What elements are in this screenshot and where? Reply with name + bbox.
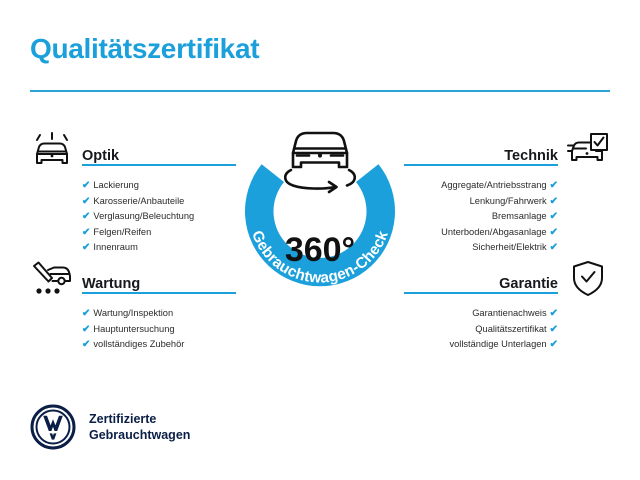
footer-brand: Zertifizierte Gebrauchtwagen	[30, 404, 190, 450]
list-item: ✔Lackierung	[82, 178, 236, 194]
checklist-garantie: Garantienachweis✔ Qualitätszertifikat✔ v…	[404, 306, 558, 353]
list-item: ✔Felgen/Reifen	[82, 225, 236, 241]
section-title: Technik	[504, 148, 558, 164]
list-item: Bremsanlage✔	[404, 209, 558, 225]
page-title: Qualitätszertifikat	[30, 33, 259, 65]
list-item-label: Bremsanlage	[492, 211, 547, 221]
list-item: vollständige Unterlagen✔	[404, 337, 558, 353]
check-icon: ✔	[82, 211, 90, 222]
list-item-label: Garantienachweis	[472, 308, 546, 318]
car-rotation-icon	[285, 133, 355, 192]
check-icon: ✔	[550, 242, 558, 253]
title-divider	[30, 90, 610, 92]
section-optik: Optik ✔Lackierung ✔Karosserie/Anbauteile…	[30, 140, 236, 256]
list-item-label: Hauptuntersuchung	[93, 324, 174, 334]
list-item: Aggregate/Antriebsstrang✔	[404, 178, 558, 194]
section-title: Wartung	[82, 276, 140, 292]
list-item: Garantienachweis✔	[404, 306, 558, 322]
list-item-label: vollständiges Zubehör	[93, 339, 184, 349]
badge-360-gebrauchtwagen-check: Gebrauchtwagen-Check 360°	[231, 122, 409, 300]
list-item-label: Innenraum	[93, 242, 137, 252]
list-item: Lenkung/Fahrwerk✔	[404, 194, 558, 210]
badge-center-label: 360°	[285, 231, 355, 269]
vw-logo	[30, 404, 76, 450]
check-icon: ✔	[82, 180, 90, 191]
list-item: ✔Wartung/Inspektion	[82, 306, 236, 322]
list-item-label: Lenkung/Fahrwerk	[470, 196, 547, 206]
check-icon: ✔	[550, 324, 558, 335]
section-technik: Technik Aggregate/Antriebsstrang✔ Lenkun…	[404, 140, 610, 256]
list-item: ✔Innenraum	[82, 240, 236, 256]
checklist-optik: ✔Lackierung ✔Karosserie/Anbauteile ✔Verg…	[82, 178, 236, 256]
check-icon: ✔	[82, 196, 90, 207]
check-icon: ✔	[550, 308, 558, 319]
list-item-label: Aggregate/Antriebsstrang	[441, 180, 546, 190]
list-item-label: Wartung/Inspektion	[93, 308, 173, 318]
list-item: Qualitätszertifikat✔	[404, 322, 558, 338]
check-icon: ✔	[550, 211, 558, 222]
section-wartung: Wartung ✔Wartung/Inspektion ✔Hauptunters…	[30, 268, 236, 353]
list-item-label: Lackierung	[93, 180, 138, 190]
list-item: Sicherheit/Elektrik✔	[404, 240, 558, 256]
check-icon: ✔	[550, 339, 558, 350]
section-divider	[82, 164, 236, 166]
list-item: ✔vollständiges Zubehör	[82, 337, 236, 353]
list-item-label: Karosserie/Anbauteile	[93, 196, 184, 206]
check-icon: ✔	[82, 227, 90, 238]
check-icon: ✔	[550, 227, 558, 238]
list-item-label: Verglasung/Beleuchtung	[93, 211, 194, 221]
section-divider	[404, 164, 558, 166]
section-garantie: Garantie Garantienachweis✔ Qualitätszert…	[404, 268, 610, 353]
list-item: ✔Hauptuntersuchung	[82, 322, 236, 338]
section-divider	[82, 292, 236, 294]
list-item: ✔Verglasung/Beleuchtung	[82, 209, 236, 225]
section-title: Garantie	[499, 276, 558, 292]
list-item-label: Unterboden/Abgasanlage	[441, 227, 546, 237]
list-item-label: vollständige Unterlagen	[449, 339, 546, 349]
certificate-page: Qualitätszertifikat Optik ✔Lackierung	[0, 0, 640, 480]
check-icon: ✔	[82, 308, 90, 319]
list-item: Unterboden/Abgasanlage✔	[404, 225, 558, 241]
list-item-label: Qualitätszertifikat	[475, 324, 546, 334]
section-divider	[404, 292, 558, 294]
check-icon: ✔	[550, 196, 558, 207]
checklist-technik: Aggregate/Antriebsstrang✔ Lenkung/Fahrwe…	[404, 178, 558, 256]
list-item: ✔Karosserie/Anbauteile	[82, 194, 236, 210]
footer-text: Zertifizierte Gebrauchtwagen	[89, 411, 190, 443]
list-item-label: Sicherheit/Elektrik	[472, 242, 546, 252]
check-icon: ✔	[82, 324, 90, 335]
list-item-label: Felgen/Reifen	[93, 227, 151, 237]
section-title: Optik	[82, 148, 119, 164]
checklist-wartung: ✔Wartung/Inspektion ✔Hauptuntersuchung ✔…	[82, 306, 236, 353]
check-icon: ✔	[550, 180, 558, 191]
check-icon: ✔	[82, 242, 90, 253]
footer-line-2: Gebrauchtwagen	[89, 428, 190, 442]
footer-line-1: Zertifizierte	[89, 412, 156, 426]
check-icon: ✔	[82, 339, 90, 350]
